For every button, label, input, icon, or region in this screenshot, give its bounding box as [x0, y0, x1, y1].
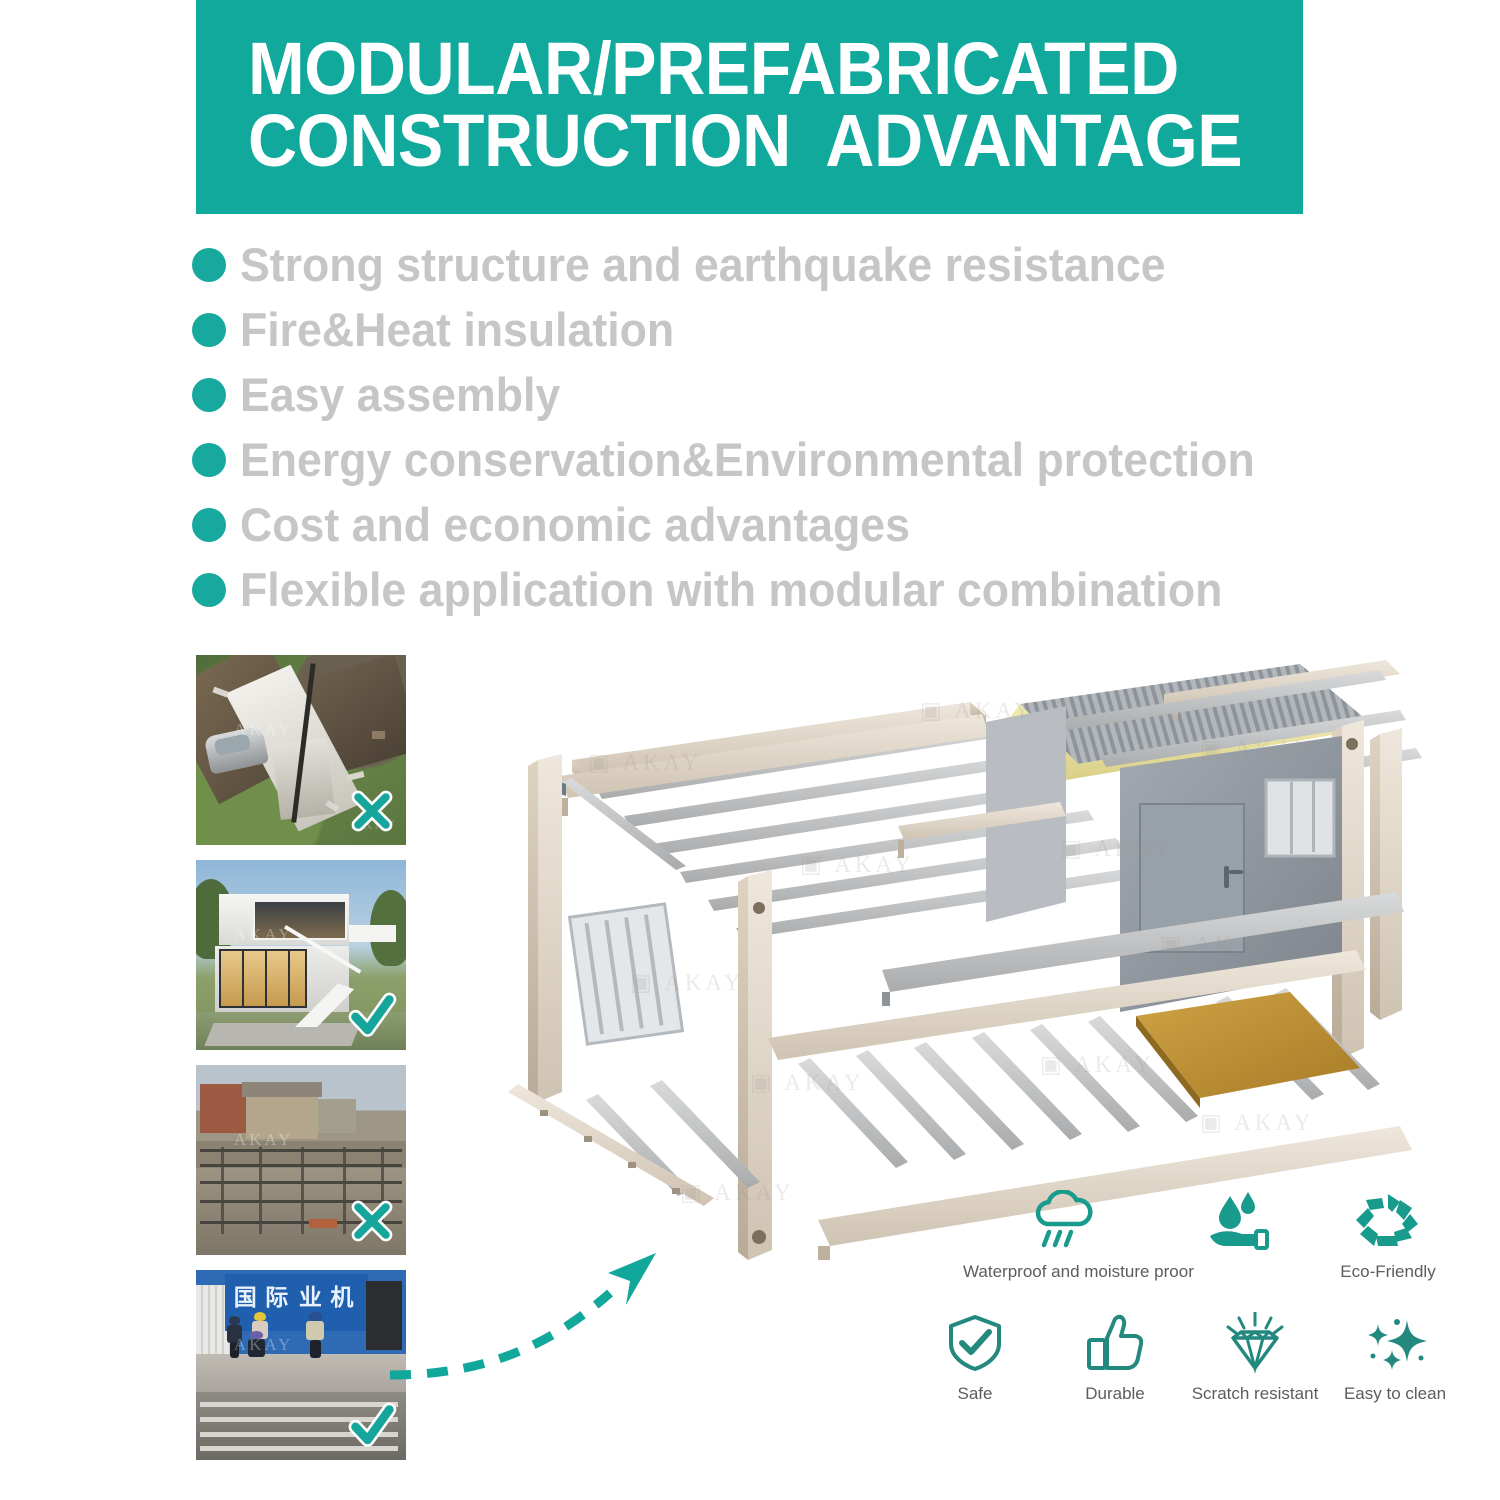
advantage-label: Strong structure and earthquake resistan… — [240, 241, 1166, 288]
advantage-label: Energy conservation&Environmental protec… — [240, 436, 1255, 483]
sparkles-icon — [1359, 1312, 1431, 1374]
feature-label: Safe — [905, 1384, 1045, 1404]
title-line-2: CONSTRUCTION ADVANTAGE — [248, 105, 1242, 177]
cross-mark-icon — [346, 785, 398, 837]
bullet-dot-icon — [192, 313, 226, 347]
bullet-dot-icon — [192, 378, 226, 412]
advantage-label: Flexible application with modular combin… — [240, 566, 1222, 613]
feature-eco-friendly: Eco-Friendly — [1313, 1190, 1463, 1282]
photo-workers-assembling-steel-frame: 国 际 业 机 AKAY — [196, 1270, 406, 1460]
feature-easy-to-clean: Easy to clean — [1325, 1312, 1465, 1404]
feature-icon-grid: Waterproof and moisture proor — [905, 1190, 1465, 1404]
photo-rebar-foundation-site: AKAY — [196, 1065, 406, 1255]
list-item: Fire&Heat insulation — [192, 297, 1352, 362]
photo-two-storey-container-house: AKAY — [196, 860, 406, 1050]
title-banner: MODULAR/PREFABRICATED CONSTRUCTION ADVAN… — [196, 0, 1303, 214]
recycle-icon — [1352, 1190, 1424, 1252]
advantage-label: Easy assembly — [240, 371, 560, 418]
list-item: Energy conservation&Environmental protec… — [192, 427, 1352, 492]
list-item: Easy assembly — [192, 362, 1352, 427]
feature-label: Scratch resistant — [1185, 1384, 1325, 1404]
list-item: Strong structure and earthquake resistan… — [192, 232, 1352, 297]
feature-label: Easy to clean — [1325, 1384, 1465, 1404]
bullet-dot-icon — [192, 508, 226, 542]
render-illustration — [500, 640, 1430, 1280]
bullet-dot-icon — [192, 248, 226, 282]
container-house-3d-render: ▣ AKAY ▣ AKAY ▣ AKAY ▣ AKAY ▣ AKAY ▣ AKA… — [500, 640, 1430, 1280]
thumbs-up-icon — [1083, 1312, 1147, 1374]
cross-mark-icon — [346, 1195, 398, 1247]
feature-waterproof: Waterproof and moisture proor — [963, 1190, 1163, 1282]
feature-durable: Durable — [1045, 1312, 1185, 1404]
check-mark-icon — [346, 990, 398, 1042]
feature-label: Waterproof and moisture proor — [963, 1262, 1163, 1282]
shield-check-icon — [943, 1312, 1007, 1374]
list-item: Flexible application with modular combin… — [192, 557, 1352, 622]
advantage-label: Cost and economic advantages — [240, 501, 910, 548]
list-item: Cost and economic advantages — [192, 492, 1352, 557]
feature-label: Durable — [1045, 1384, 1185, 1404]
feature-moisture-proof — [1163, 1190, 1313, 1282]
photo-collapsed-building-aerial: AKAY AKAY — [196, 655, 406, 845]
feature-scratch-resistant: Scratch resistant — [1185, 1312, 1325, 1404]
check-mark-icon — [346, 1400, 398, 1452]
advantage-label: Fire&Heat insulation — [240, 306, 674, 353]
bullet-dot-icon — [192, 573, 226, 607]
feature-safe: Safe — [905, 1312, 1045, 1404]
feature-label: Eco-Friendly — [1313, 1262, 1463, 1282]
rain-cloud-icon — [1027, 1190, 1099, 1252]
diamond-icon — [1219, 1312, 1291, 1374]
title-line-1: MODULAR/PREFABRICATED — [248, 33, 1179, 105]
bullet-dot-icon — [192, 443, 226, 477]
comparison-photo-column: AKAY AKAY AKAY — [196, 655, 406, 1475]
water-drop-hand-icon — [1202, 1190, 1274, 1252]
advantages-list: Strong structure and earthquake resistan… — [192, 232, 1352, 622]
